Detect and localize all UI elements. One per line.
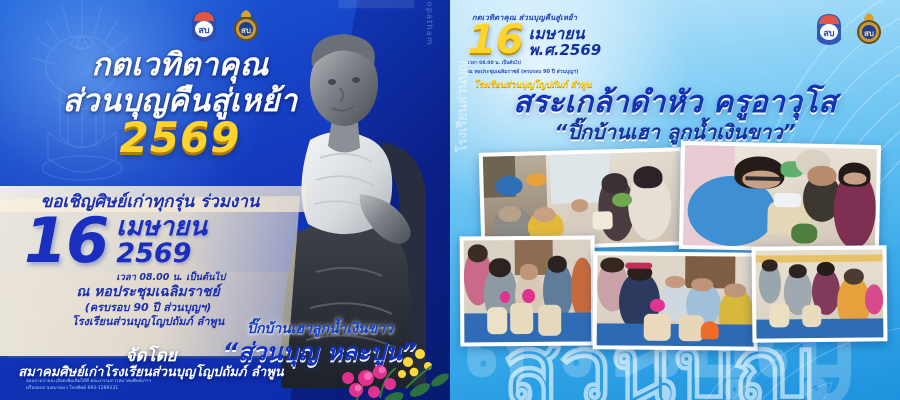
venue-line1: ณ หอประชุมเฉลิมราชย์ [0, 284, 296, 301]
left-emblem-row: สบ สบ [0, 9, 450, 43]
right-header-block: กตเวทิตาคุณ ส่วนบุญคืนสู่เหย้า 16 เมษายน… [468, 12, 658, 91]
fineprint-line2: หรือสอบถามสมาคมฯ โทรศัพท์ 093-1289231 [26, 386, 266, 393]
event-year: 2569 [116, 240, 225, 268]
photo-offering-basket-elder [679, 141, 881, 253]
svg-text:สบ: สบ [823, 28, 834, 38]
date-block: 16 เมษายน 2569 เวลา 08.00 น. เป็นต้นไป [24, 212, 304, 285]
photo-group-tables [752, 245, 888, 342]
organizer-label: จัดโดย [6, 348, 296, 366]
headline-line1: กตเวทิตาคุณ [0, 48, 360, 84]
svg-text:สบ: สบ [241, 26, 251, 35]
alumni-medal-emblem: สบ [231, 9, 261, 43]
svg-text:สบ: สบ [198, 25, 209, 35]
alumni-medal-emblem: สบ [854, 12, 884, 46]
flower-decoration [336, 328, 450, 400]
photo-pouring-water-blessing [593, 251, 759, 350]
right-header-sub1: เวลา 08.00 น. เป็นต้นไป [468, 60, 658, 67]
right-emblem-row: สบ สบ [814, 12, 884, 46]
right-poster-panel: ส่วนบุญ ส่วนบุญ โรงเรียนส่วนบุญ กตเวทิตา… [450, 0, 900, 400]
right-title: สระเกล้าดำหัว ครูอาวุโส [450, 86, 900, 119]
venue-line2: (ครบรอบ 90 ปี ส่วนบุญฯ) [0, 301, 296, 315]
photo-collage [450, 142, 900, 372]
right-subtitle: “ปิ๊กบ้านเฮา ลูกน้ำเงินขาว” [450, 120, 900, 144]
left-poster-panel: สบ Suanboonyopatham [0, 0, 450, 400]
right-header-sub2: ณ หอประชุมเฉลิมราชย์ (ครบรอบ 90 ปี ส่วนบ… [468, 68, 658, 76]
svg-text:สบ: สบ [864, 29, 874, 38]
right-headline: สระเกล้าดำหัว ครูอาวุโส “ปิ๊กบ้านเฮา ลูก… [450, 86, 900, 144]
fineprint-line1: สอบถามรายละเอียดเพิ่มเติมได้ที่ คณะกรรมก… [26, 379, 266, 386]
left-headline: กตเวทิตาคุณ ส่วนบุญคืนสู่เหย้า 2569 [0, 48, 360, 160]
right-header-month: เมษายน [529, 26, 602, 42]
organizer-block: จัดโดย สมาคมศิษย์เก่าโรงเรียนส่วนบุญโญปถ… [6, 348, 296, 381]
photo-elders-receiving-gifts [460, 236, 596, 347]
school-crest-emblem: สบ [189, 9, 219, 43]
headline-year: 2569 [0, 117, 360, 160]
right-header-day: 16 [468, 22, 524, 59]
event-poster-banner: สบ Suanboonyopatham [0, 0, 900, 400]
event-month: เมษายน [116, 214, 225, 240]
school-crest-emblem: สบ [814, 12, 844, 46]
right-header-year: พ.ศ.2569 [529, 42, 602, 59]
fineprint-block: สอบถามรายละเอียดเพิ่มเติมได้ที่ คณะกรรมก… [26, 379, 266, 393]
event-day: 16 [24, 212, 108, 269]
